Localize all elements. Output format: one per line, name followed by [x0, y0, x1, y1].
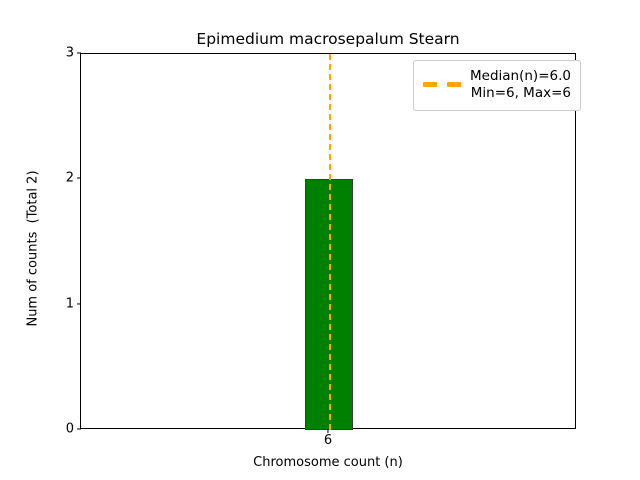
legend-range-label: Min=6, Max=6	[471, 85, 571, 102]
y-axis-tick-mark	[77, 52, 81, 53]
chart-legend: Median(n)=6.0 Min=6, Max=6	[413, 60, 581, 111]
x-axis-tick-label: 6	[324, 433, 332, 448]
y-axis-label: Num of counts (Total 2)	[26, 99, 41, 399]
y-axis-tick-label: 1	[0, 296, 74, 311]
legend-dash-segment	[423, 82, 437, 87]
y-axis-tick-label: 3	[0, 46, 74, 61]
y-axis-tick-label: 0	[0, 422, 74, 437]
legend-dash-segment	[447, 82, 461, 87]
x-axis-tick-mark	[327, 429, 328, 433]
y-axis-tick-mark	[77, 428, 81, 429]
median-line	[329, 54, 331, 430]
y-axis-tick-label: 2	[0, 171, 74, 186]
chart-title: Epimedium macrosepalum Stearn	[80, 30, 576, 48]
y-axis-tick-mark	[77, 178, 81, 179]
chart-figure: Epimedium macrosepalum Stearn Num of cou…	[0, 0, 640, 480]
median-line-swatch-icon	[423, 82, 461, 88]
legend-median-label: Median(n)=6.0	[470, 68, 571, 85]
y-axis-tick-mark	[77, 303, 81, 304]
x-axis-label: Chromosome count (n)	[80, 455, 576, 470]
legend-text-block: Median(n)=6.0 Min=6, Max=6	[470, 68, 571, 103]
